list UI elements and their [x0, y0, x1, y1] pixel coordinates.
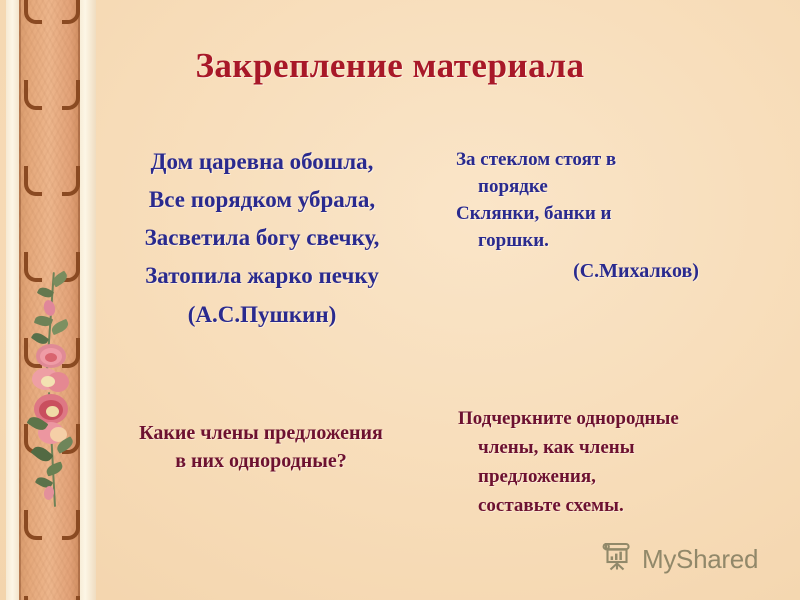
poem-line: Все порядком убрала,: [86, 181, 438, 219]
poem-line: Засветила богу свечку,: [86, 219, 438, 257]
presentation-chart-icon: [601, 540, 635, 579]
poem-line: Затопила жарко печку: [86, 257, 438, 295]
left-border-decoration: [0, 0, 100, 600]
stitch-hook: [62, 80, 80, 110]
stitch-hook: [24, 80, 42, 110]
stitch-hook: [24, 596, 42, 600]
right-task-line-4: составьте схемы.: [458, 491, 778, 520]
stitch-hook: [62, 166, 80, 196]
right-task-line-2: члены, как члены: [458, 433, 778, 462]
slide-canvas: Закрепление материала Дом царевна обошла…: [0, 0, 800, 600]
left-task-text: Какие члены предложения в них однородные…: [86, 419, 436, 475]
stitch-hook: [24, 510, 42, 540]
band-edge-left: [19, 0, 21, 600]
left-column: Дом царевна обошла, Все порядком убрала,…: [86, 143, 438, 335]
left-task-line-1: Какие члены предложения: [86, 419, 436, 447]
poem-attribution: (А.С.Пушкин): [86, 295, 438, 335]
quote-line: Склянки, банки и: [456, 200, 766, 227]
stitch-hook: [24, 166, 42, 196]
stitch-hook: [24, 0, 42, 24]
myshared-label: MyShared: [642, 544, 758, 575]
stitch-hook: [62, 510, 80, 540]
right-task-line-3: предложения,: [458, 462, 778, 491]
right-task-text: Подчеркните однородные члены, как члены …: [452, 404, 778, 520]
right-task-line-1: Подчеркните однородные: [458, 404, 778, 433]
slide-title: Закрепление материала: [100, 46, 800, 86]
left-task-line-2: в них однородные?: [86, 447, 436, 475]
right-column: За стеклом стоят в порядке Склянки, банк…: [456, 146, 766, 288]
quote-line: порядке: [456, 173, 766, 200]
quote-attribution: (С.Михалков): [456, 254, 766, 288]
floral-ornament-icon: [22, 272, 80, 507]
quote-line: За стеклом стоят в: [456, 146, 766, 173]
myshared-watermark: MyShared: [601, 540, 758, 579]
quote-line: горшки.: [456, 227, 766, 254]
stitch-hook: [62, 596, 80, 600]
poem-line: Дом царевна обошла,: [86, 143, 438, 181]
